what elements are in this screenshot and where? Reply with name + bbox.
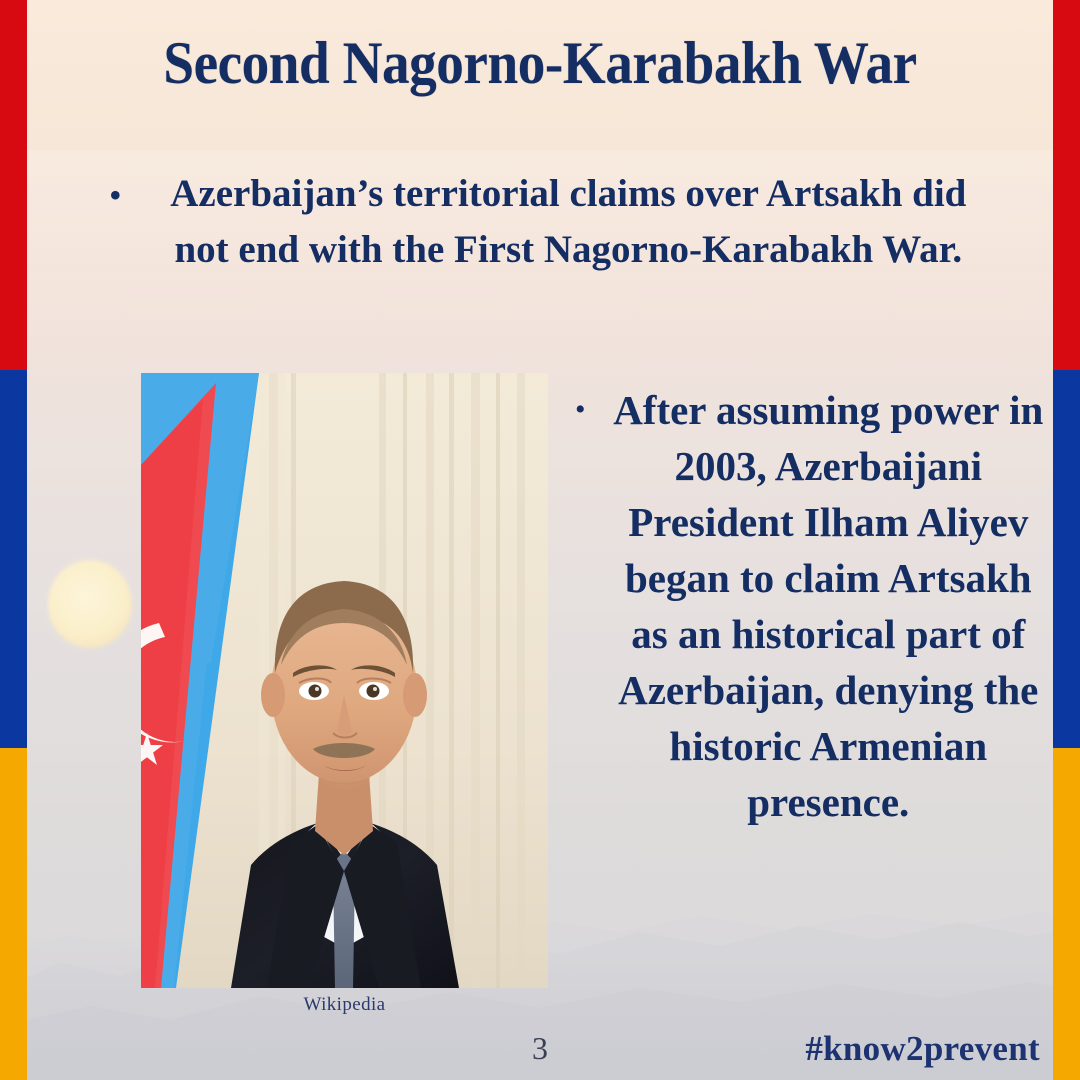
bullet-point-icon: •	[575, 382, 586, 438]
hashtag-label: #know2prevent	[805, 1029, 1040, 1069]
bullet-item-territorial-claims: • Azerbaijan’s territorial claims over A…	[109, 166, 989, 278]
flag-band-red	[0, 0, 27, 370]
bullet-point-icon: •	[109, 166, 122, 224]
bullet-item-aliyev: • After assuming power in 2003, Azerbaij…	[575, 382, 1053, 830]
flag-band-orange	[1053, 748, 1080, 1080]
page-title: Second Nagorno-Karabakh War	[68, 32, 1012, 95]
flag-band-orange	[0, 748, 27, 1080]
flag-band-blue	[0, 370, 27, 748]
flag-band-red	[1053, 0, 1080, 370]
slide-content: Second Nagorno-Karabakh War • Azerbaijan…	[27, 0, 1053, 1080]
bullet-text: After assuming power in 2003, Azerbaijan…	[604, 382, 1053, 830]
portrait-photo	[141, 373, 548, 988]
armenian-flag-stripe-left	[0, 0, 27, 1080]
slide-canvas: Second Nagorno-Karabakh War • Azerbaijan…	[0, 0, 1080, 1080]
flag-band-blue	[1053, 370, 1080, 748]
bullet-text: Azerbaijan’s territorial claims over Art…	[148, 166, 989, 278]
armenian-flag-stripe-right	[1053, 0, 1080, 1080]
photo-credit: Wikipedia	[141, 994, 548, 1016]
